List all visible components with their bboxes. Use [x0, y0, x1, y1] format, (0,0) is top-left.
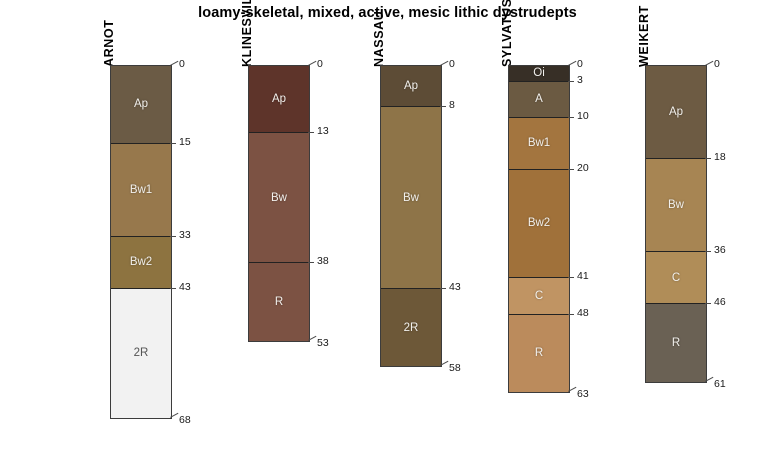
profile-column[interactable]: ApBwCR [645, 65, 707, 383]
horizon-bw2[interactable]: Bw2 [509, 170, 569, 279]
depth-tick-leader [568, 61, 576, 66]
horizon-label: Ap [134, 98, 148, 110]
depth-value-label: 68 [179, 414, 191, 426]
depth-tick [705, 303, 711, 304]
depth-value-label: 38 [317, 255, 329, 267]
depth-value-label: 10 [577, 110, 589, 122]
profile-column[interactable]: ApBw2R [380, 65, 442, 367]
horizon-label: R [672, 337, 680, 349]
depth-tick-leader [440, 61, 448, 66]
depth-tick [568, 277, 574, 278]
horizon-label: C [535, 290, 543, 302]
horizon-c[interactable]: C [646, 252, 706, 304]
depth-value-label: 63 [577, 388, 589, 400]
profile-name-label: SYLVATUS [500, 0, 514, 67]
depth-tick [170, 288, 176, 289]
horizon-ap[interactable]: Ap [646, 66, 706, 159]
depth-value-label: 13 [317, 125, 329, 137]
horizon-label: Ap [272, 93, 286, 105]
depth-value-label: 0 [714, 58, 720, 70]
horizon-r[interactable]: R [509, 315, 569, 393]
horizon-r[interactable]: R [249, 263, 309, 341]
horizon-label: R [275, 296, 283, 308]
profile-name-label: KLINESVILLE [240, 0, 254, 67]
soil-profile-figure: loamy-skeletal, mixed, active, mesic lit… [0, 0, 775, 450]
horizon-oi[interactable]: Oi [509, 66, 569, 82]
horizon-ap[interactable]: Ap [111, 66, 171, 144]
horizon-label: Ap [404, 80, 418, 92]
profile-name-label: NASSAU [372, 11, 386, 67]
depth-value-label: 48 [577, 307, 589, 319]
depth-tick [568, 169, 574, 170]
depth-tick [568, 314, 574, 315]
horizon-label: Bw2 [130, 256, 152, 268]
profile-name-label: ARNOT [102, 20, 116, 67]
horizon-label: R [535, 347, 543, 359]
profile-name-label: WEIKERT [637, 5, 651, 67]
depth-value-label: 0 [317, 58, 323, 70]
horizon-label: Bw [403, 192, 419, 204]
depth-value-label: 61 [714, 378, 726, 390]
depth-tick [705, 251, 711, 252]
depth-value-label: 15 [179, 136, 191, 148]
depth-value-label: 0 [577, 58, 583, 70]
depth-tick-leader [170, 61, 178, 66]
horizon-bw1[interactable]: Bw1 [509, 118, 569, 170]
horizon-bw1[interactable]: Bw1 [111, 144, 171, 237]
horizon-label: Oi [533, 67, 545, 79]
horizon-bw[interactable]: Bw [249, 133, 309, 263]
horizon-label: Bw1 [528, 137, 550, 149]
depth-value-label: 8 [449, 99, 455, 111]
horizon-label: Bw [668, 199, 684, 211]
depth-value-label: 3 [577, 74, 583, 86]
depth-tick [440, 106, 446, 107]
horizon-2r[interactable]: 2R [381, 289, 441, 367]
depth-tick [308, 262, 314, 263]
depth-tick [170, 236, 176, 237]
depth-value-label: 58 [449, 362, 461, 374]
depth-tick-leader [705, 61, 713, 66]
page-title: loamy-skeletal, mixed, active, mesic lit… [0, 5, 775, 21]
horizon-bw[interactable]: Bw [646, 159, 706, 252]
depth-value-label: 20 [577, 162, 589, 174]
horizon-label: C [672, 272, 680, 284]
depth-tick [308, 132, 314, 133]
horizon-label: Ap [669, 106, 683, 118]
depth-tick [170, 143, 176, 144]
depth-tick-leader [308, 61, 316, 66]
depth-value-label: 18 [714, 151, 726, 163]
depth-value-label: 36 [714, 244, 726, 256]
depth-value-label: 53 [317, 337, 329, 349]
depth-tick [440, 288, 446, 289]
horizon-label: 2R [404, 322, 419, 334]
horizon-label: 2R [134, 347, 149, 359]
depth-value-label: 0 [449, 58, 455, 70]
horizon-bw[interactable]: Bw [381, 107, 441, 288]
horizon-ap[interactable]: Ap [381, 66, 441, 107]
profile-column[interactable]: ApBwR [248, 65, 310, 342]
depth-tick [568, 81, 574, 82]
depth-value-label: 46 [714, 296, 726, 308]
depth-tick [705, 158, 711, 159]
horizon-ap[interactable]: Ap [249, 66, 309, 133]
depth-value-label: 0 [179, 58, 185, 70]
depth-value-label: 33 [179, 229, 191, 241]
horizon-label: Bw1 [130, 184, 152, 196]
horizon-a[interactable]: A [509, 82, 569, 118]
profile-column[interactable]: ApBw1Bw22R [110, 65, 172, 419]
depth-value-label: 43 [179, 281, 191, 293]
depth-tick [568, 117, 574, 118]
horizon-2r[interactable]: 2R [111, 289, 171, 419]
horizon-c[interactable]: C [509, 278, 569, 314]
horizon-bw2[interactable]: Bw2 [111, 237, 171, 289]
depth-value-label: 41 [577, 270, 589, 282]
depth-value-label: 43 [449, 281, 461, 293]
horizon-label: Bw2 [528, 217, 550, 229]
horizon-label: A [535, 93, 543, 105]
horizon-label: Bw [271, 192, 287, 204]
profile-column[interactable]: OiABw1Bw2CR [508, 65, 570, 393]
horizon-r[interactable]: R [646, 304, 706, 382]
